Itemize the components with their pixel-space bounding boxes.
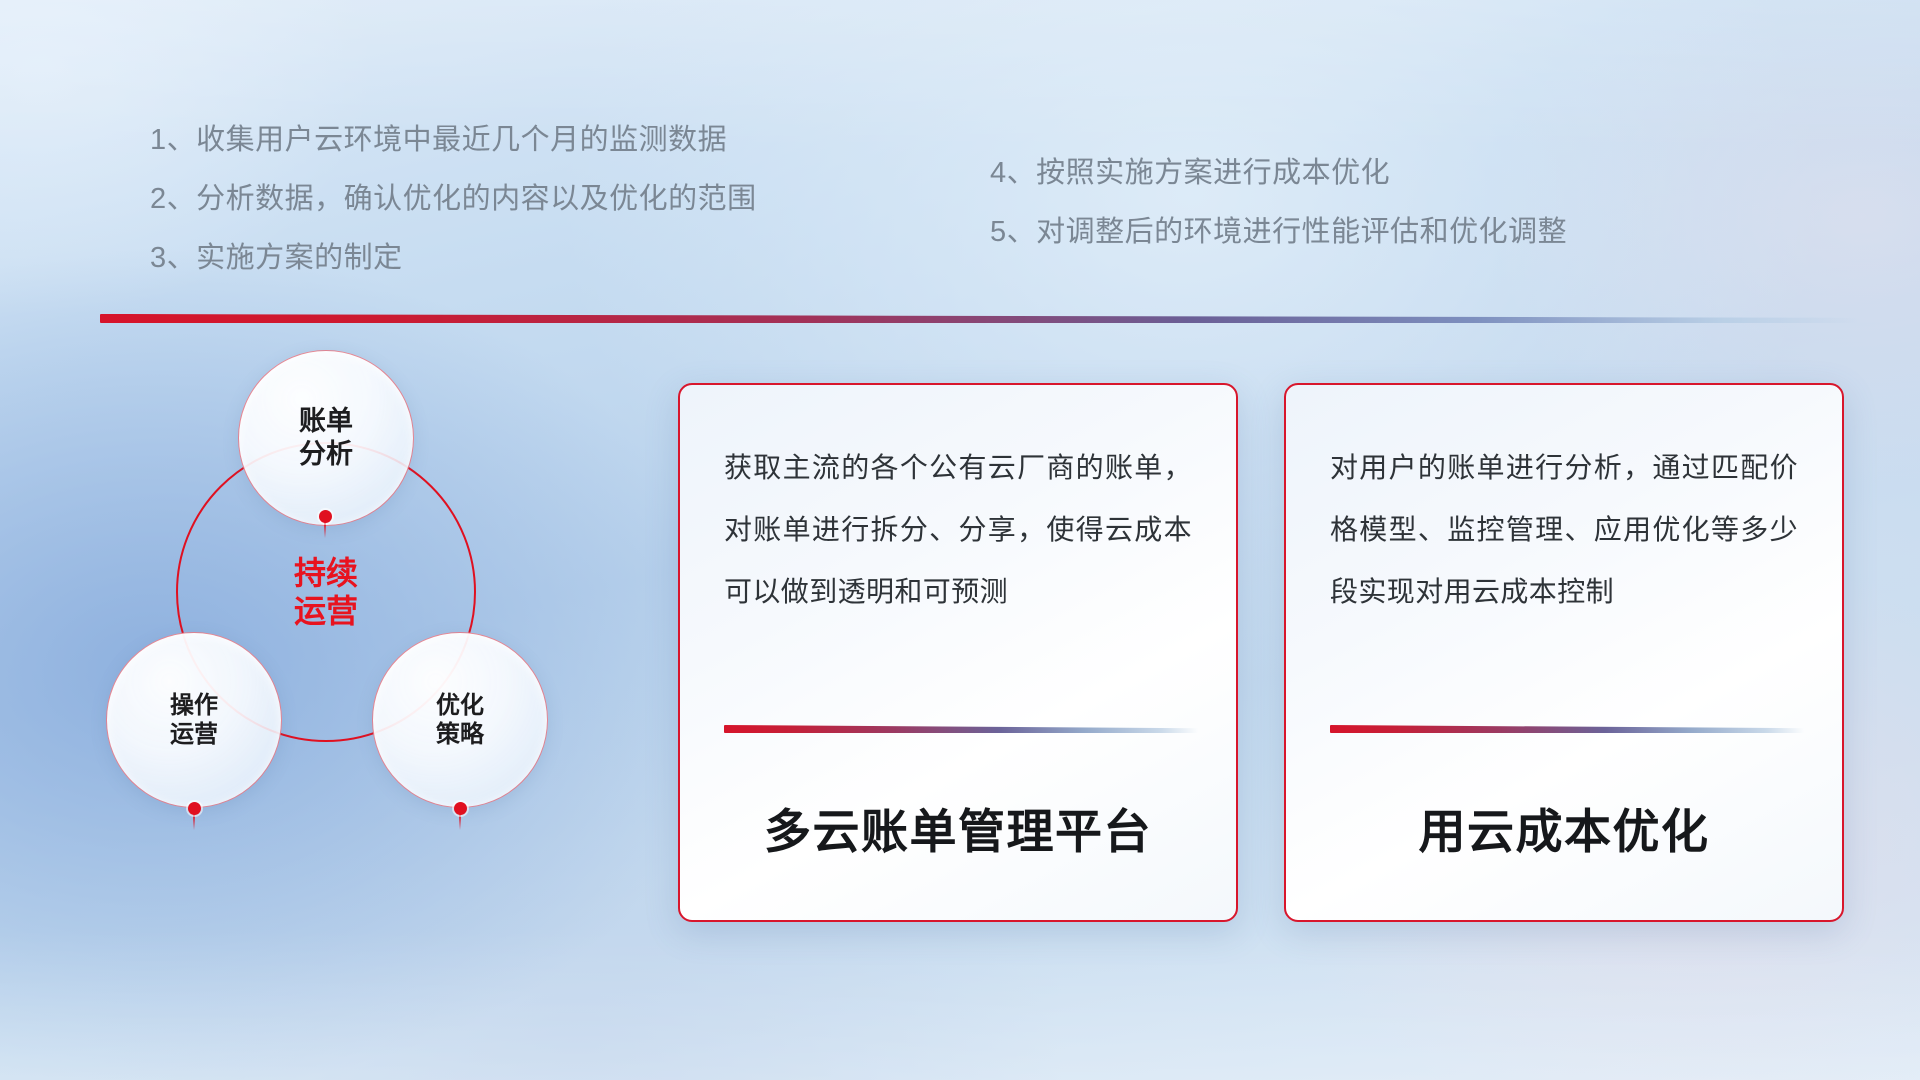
center-label-line-2: 运营 [294,592,358,630]
step-item-1: 1、收集用户云环境中最近几个月的监测数据 [150,126,757,155]
steps-left-column: 1、收集用户云环境中最近几个月的监测数据 2、分析数据，确认优化的内容以及优化的… [150,126,757,303]
steps-right-column: 4、按照实施方案进行成本优化 5、对调整后的环境进行性能评估和优化调整 [990,159,1567,277]
node-label-line-1: 账单 [299,405,353,438]
card-body-text: 对用户的账单进行分析，通过匹配价格模型、监控管理、应用优化等多少段实现对用云成本… [1330,437,1798,623]
step-item-3: 3、实施方案的制定 [150,244,757,273]
diagram-node-stem-top-icon [324,522,326,538]
card-title: 用云成本优化 [1286,793,1842,862]
node-label-line-2: 分析 [299,438,353,471]
card-multi-cloud-billing-platform[interactable]: 获取主流的各个公有云厂商的账单，对账单进行拆分、分享，使得云成本可以做到透明和可… [678,383,1238,922]
card-accent-rule [724,725,1198,733]
diagram-node-operation-running[interactable]: 操作 运营 [106,632,282,808]
diagram-node-stem-bottom-right-icon [459,814,461,830]
step-item-5: 5、对调整后的环境进行性能评估和优化调整 [990,218,1567,247]
diagram-node-billing-analysis[interactable]: 账单 分析 [238,350,414,526]
card-title: 多云账单管理平台 [680,793,1236,862]
diagram-node-optimization-policy[interactable]: 优化 策略 [372,632,548,808]
diagram-node-dot-top-icon [319,510,332,523]
node-label-line-1: 操作 [170,691,218,720]
diagram-node-dot-bottom-left-icon [188,802,201,815]
step-item-2: 2、分析数据，确认优化的内容以及优化的范围 [150,185,757,214]
node-label-line-2: 运营 [170,720,218,749]
card-accent-rule [1330,725,1804,733]
node-label-line-1: 优化 [436,691,484,720]
card-cloud-cost-optimization[interactable]: 对用户的账单进行分析，通过匹配价格模型、监控管理、应用优化等多少段实现对用云成本… [1284,383,1844,922]
diagram-node-stem-bottom-left-icon [193,814,195,830]
step-item-4: 4、按照实施方案进行成本优化 [990,159,1567,188]
diagram-node-dot-bottom-right-icon [454,802,467,815]
center-label-line-1: 持续 [294,554,358,592]
node-label-line-2: 策略 [436,720,484,749]
card-body-text: 获取主流的各个公有云厂商的账单，对账单进行拆分、分享，使得云成本可以做到透明和可… [724,437,1192,623]
continuous-operation-diagram: 持续 运营 账单 分析 操作 运营 优化 策略 [100,350,660,950]
